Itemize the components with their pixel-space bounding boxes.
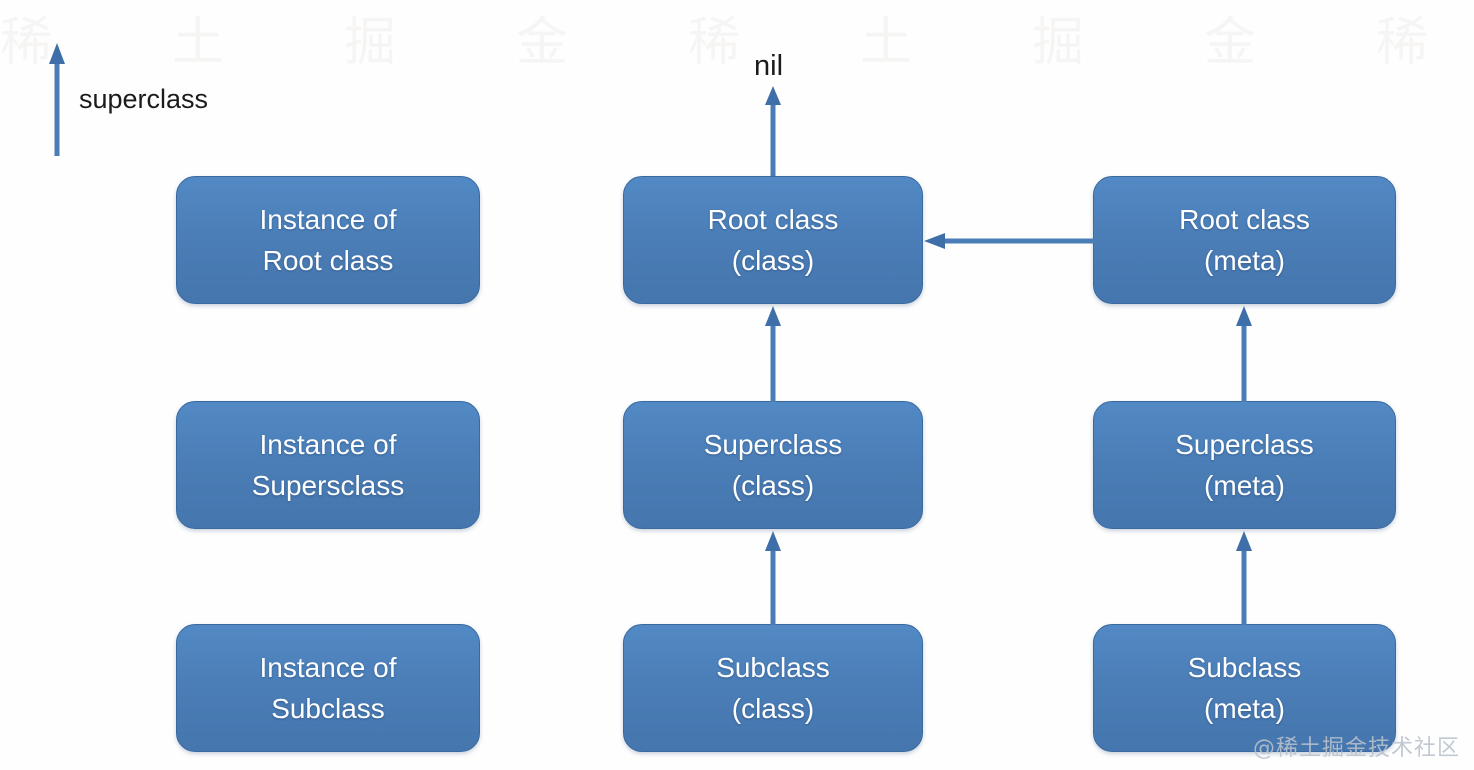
node-line-2: (meta) xyxy=(1204,465,1285,506)
node-line-1: Instance of xyxy=(260,647,397,688)
node-line-1: Instance of xyxy=(260,199,397,240)
node-line-2: (class) xyxy=(732,688,814,729)
legend-label-superclass: superclass xyxy=(79,84,208,115)
arrow-superclass-meta-to-root-meta xyxy=(1228,304,1260,402)
node-instance-subclass[interactable]: Instance of Subclass xyxy=(176,624,480,752)
node-line-2: (meta) xyxy=(1204,688,1285,729)
node-line-1: Root class xyxy=(708,199,839,240)
arrow-root-meta-to-root-class xyxy=(920,226,1098,256)
node-line-2: Supersclass xyxy=(252,465,405,506)
node-line-2: (class) xyxy=(732,465,814,506)
node-superclass-meta[interactable]: Superclass (meta) xyxy=(1093,401,1396,529)
nil-label: nil xyxy=(754,50,783,83)
arrow-root-class-to-nil xyxy=(757,84,789,179)
arrow-subclass-class-to-superclass-class xyxy=(757,529,789,625)
node-line-2: Root class xyxy=(263,240,394,281)
background-watermark-texture: 稀土掘金稀土掘金稀土掘金 xyxy=(0,0,1474,70)
site-watermark: @稀土掘金技术社区 xyxy=(1253,730,1460,762)
node-instance-supersclass[interactable]: Instance of Supersclass xyxy=(176,401,480,529)
node-line-1: Superclass xyxy=(1175,424,1314,465)
node-line-1: Superclass xyxy=(704,424,843,465)
legend-arrow-up-icon xyxy=(42,40,76,158)
node-line-2: (class) xyxy=(732,240,814,281)
node-line-2: (meta) xyxy=(1204,240,1285,281)
class-hierarchy-diagram: 稀土掘金稀土掘金稀土掘金 superclass nil Instance of … xyxy=(0,0,1474,770)
arrow-superclass-class-to-root-class xyxy=(757,304,789,402)
arrow-subclass-meta-to-superclass-meta xyxy=(1228,529,1260,625)
node-line-1: Subclass xyxy=(716,647,830,688)
node-root-meta[interactable]: Root class (meta) xyxy=(1093,176,1396,304)
node-instance-root-class[interactable]: Instance of Root class xyxy=(176,176,480,304)
node-line-1: Instance of xyxy=(260,424,397,465)
node-line-1: Subclass xyxy=(1188,647,1302,688)
node-line-1: Root class xyxy=(1179,199,1310,240)
node-line-2: Subclass xyxy=(271,688,385,729)
node-root-class[interactable]: Root class (class) xyxy=(623,176,923,304)
node-superclass-class[interactable]: Superclass (class) xyxy=(623,401,923,529)
node-subclass-class[interactable]: Subclass (class) xyxy=(623,624,923,752)
